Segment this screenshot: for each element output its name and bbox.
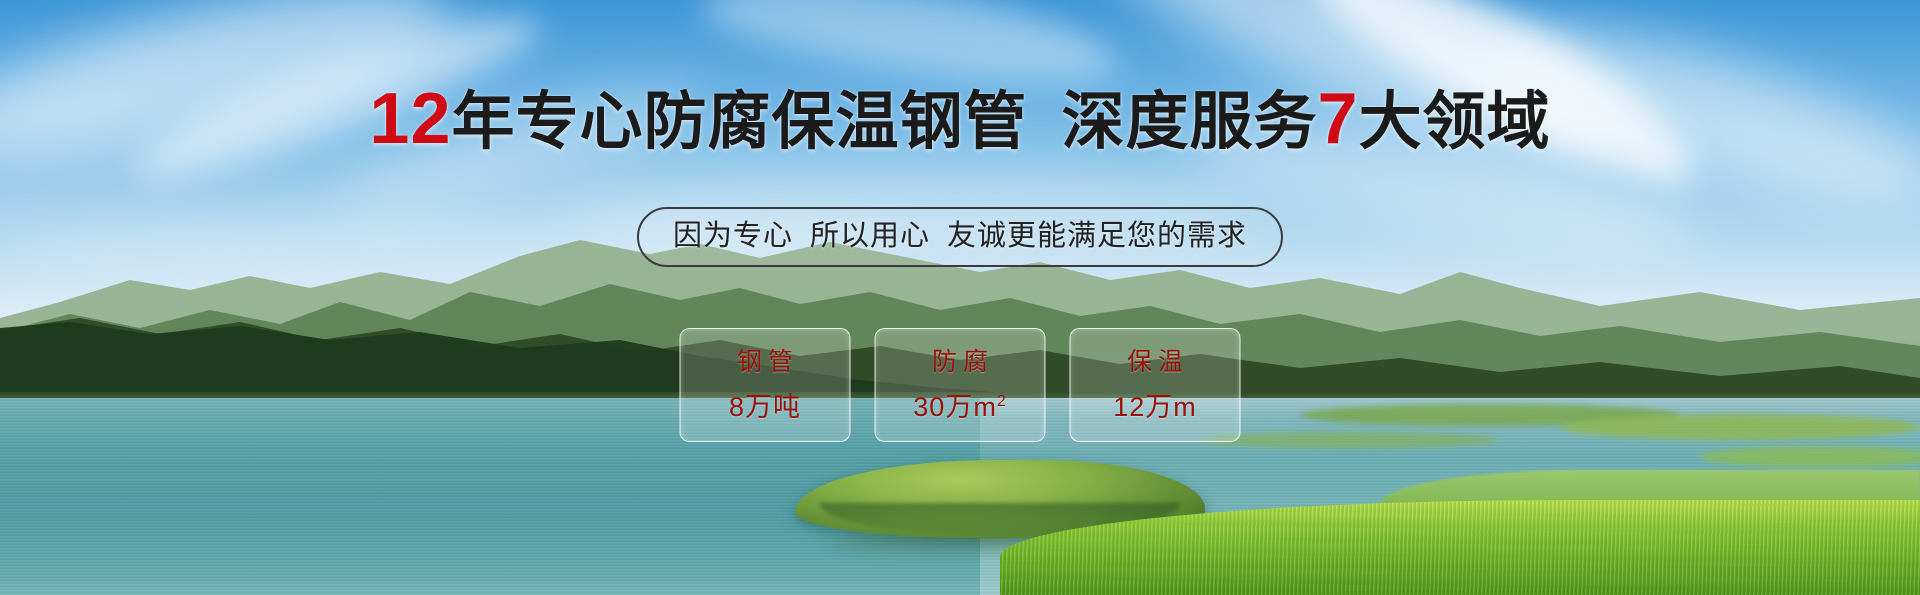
stat-card-value-sup: 2 [997,393,1007,410]
stat-card-title: 防腐 [926,347,994,377]
subtitle-pill: 因为专心所以用心友诚更能满足您的需求 [637,207,1283,267]
stat-card-list: 钢管 8万吨 防腐 30万m2 保温 12万m [680,328,1241,442]
stat-card-value-text: 12万m [1113,392,1197,422]
stat-card-title: 钢管 [731,347,799,377]
headline-tail-after: 大领域 [1359,87,1551,157]
subtitle-part-3: 友诚更能满足您的需求 [947,220,1247,252]
headline-lead-rest: 年专心防腐保温钢管 [452,87,1028,157]
headline: 12年专心防腐保温钢管深度服务7大领域 [0,86,1920,155]
headline-tail-before: 深度服务 [1062,87,1318,157]
stat-card-value-text: 8万吨 [729,392,801,422]
stat-card-value: 8万吨 [729,386,801,423]
headline-lead-number: 12 [369,79,451,159]
stat-card-value-text: 30万m [913,392,997,422]
stat-card-value: 12万m [1113,386,1197,423]
stat-card-value: 30万m2 [913,386,1006,423]
subtitle-part-2: 所以用心 [810,220,930,252]
stat-card-title: 保温 [1121,347,1189,377]
banner-content: 12年专心防腐保温钢管深度服务7大领域 因为专心所以用心友诚更能满足您的需求 钢… [0,0,1920,595]
stat-card-anticorrosion[interactable]: 防腐 30万m2 [875,328,1046,442]
stat-card-insulation[interactable]: 保温 12万m [1070,328,1241,442]
subtitle-part-1: 因为专心 [673,220,793,252]
headline-tail-number: 7 [1318,79,1359,159]
stat-card-steel-pipe[interactable]: 钢管 8万吨 [680,328,851,442]
hero-banner: 12年专心防腐保温钢管深度服务7大领域 因为专心所以用心友诚更能满足您的需求 钢… [0,0,1920,595]
